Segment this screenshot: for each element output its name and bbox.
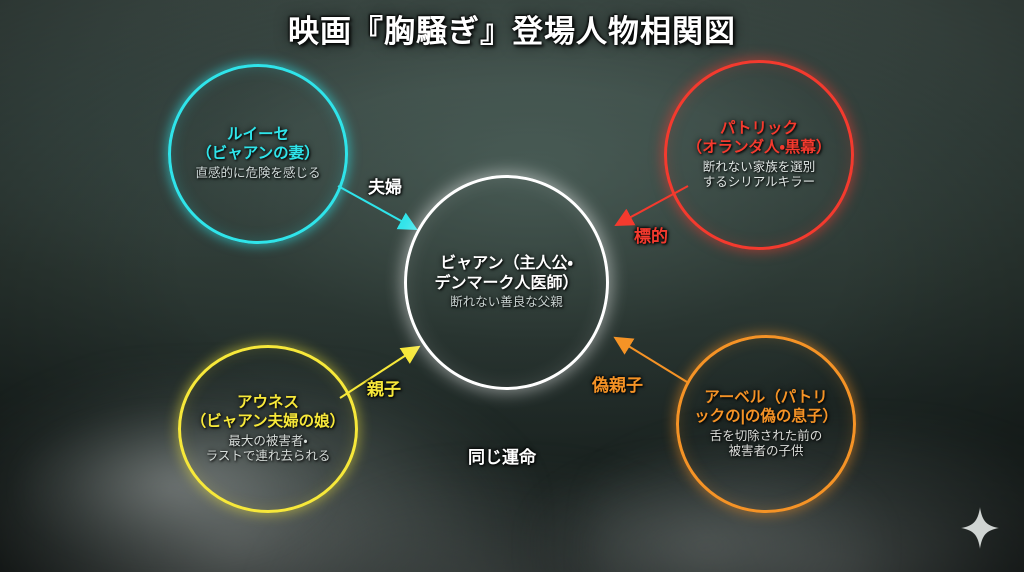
character-node-agnes[interactable]: アウネス （ビャアン夫婦の娘） 最大の被害者・ ラストで連れ去られる — [178, 345, 358, 513]
annotation-same-fate: 同じ運命 — [468, 443, 536, 468]
sparkle-icon — [960, 506, 1000, 550]
character-node-abel[interactable]: アーベル（パトリ ックの|の偽の息子） 舌を切除された前の 被害者の子供 — [676, 335, 856, 513]
relationship-chart-canvas: 映画『胸騒ぎ』登場人物相関図 ルイーセ （ビャアンの妻） 直感的に危険を感じる … — [0, 0, 1024, 572]
character-description-abel: 舌を切除された前の 被害者の子供 — [710, 429, 823, 460]
character-description-patrick: 断れない家族を選別 するシリアルキラー — [703, 160, 816, 191]
edge-label-nisuoyako: 偽親子 — [592, 371, 643, 396]
character-name-patrick: パトリック （オランダ人・黒幕） — [687, 120, 832, 158]
character-description-bjorn: 断れない善良な父親 — [450, 295, 563, 310]
character-node-louise[interactable]: ルイーセ （ビャアンの妻） 直感的に危険を感じる — [168, 64, 348, 244]
character-name-bjorn: ビャアン（主人公・ デンマーク人医師） — [434, 254, 578, 293]
fog-layer-center — [266, 469, 737, 572]
character-name-agnes: アウネス （ビャアン夫婦の娘） — [191, 394, 345, 432]
edge-label-oyako: 親子 — [367, 375, 401, 400]
edge-label-hyoteki: 標的 — [634, 222, 668, 247]
character-description-louise: 直感的に危険を感じる — [195, 166, 320, 181]
character-name-louise: ルイーセ （ビャアンの妻） — [196, 126, 319, 164]
page-title: 映画『胸騒ぎ』登場人物相関図 — [0, 6, 1024, 51]
edge-label-fufu: 夫婦 — [368, 173, 402, 198]
character-description-agnes: 最大の被害者・ ラストで連れ去られる — [206, 434, 331, 465]
character-node-bjorn[interactable]: ビャアン（主人公・ デンマーク人医師） 断れない善良な父親 — [404, 175, 609, 390]
character-name-abel: アーベル（パトリ ックの|の偽の息子） — [694, 389, 838, 427]
character-node-patrick[interactable]: パトリック （オランダ人・黒幕） 断れない家族を選別 するシリアルキラー — [664, 60, 854, 250]
